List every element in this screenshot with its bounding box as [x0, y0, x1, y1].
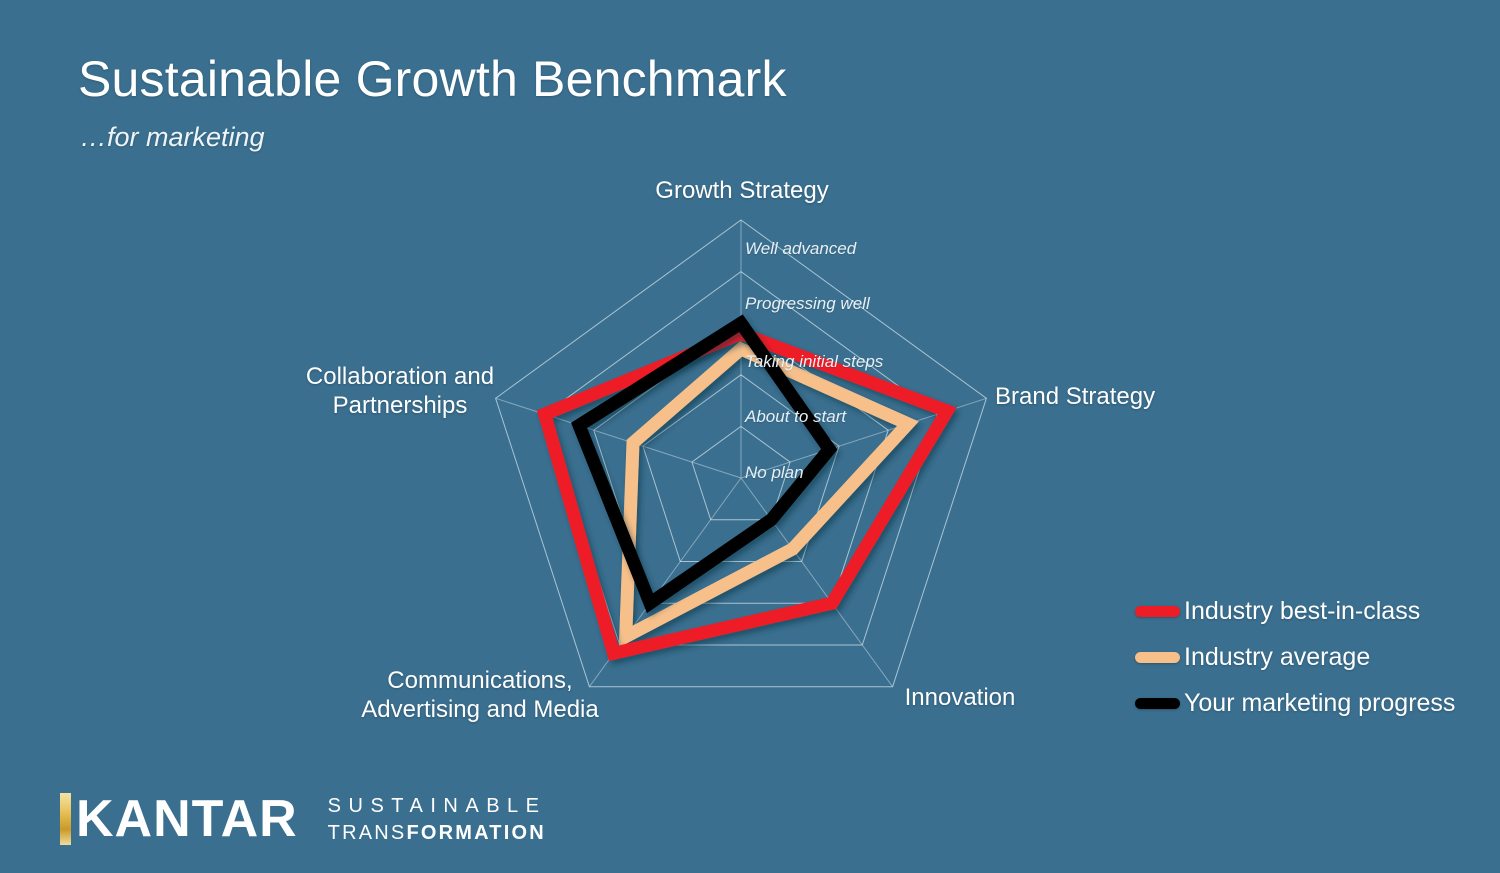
- kantar-logo: KANTAR SUSTAINABLE TRANSFORMATION: [60, 793, 547, 845]
- radar-axis-label-5: Collaboration and Partnerships: [250, 362, 550, 420]
- legend-swatch-icon: [1135, 606, 1180, 617]
- logo-formation-bold: FORMATION: [406, 822, 545, 844]
- logo-line-transformation: TRANSFORMATION: [328, 823, 547, 843]
- radial-tick-label: Taking initial steps: [745, 352, 883, 372]
- radar-axis-label-3: Innovation: [860, 683, 1060, 712]
- radar-axis-label-1: Growth Strategy: [612, 176, 872, 205]
- logo-trans-light: TRANS: [328, 822, 407, 844]
- legend-label: Your marketing progress: [1184, 689, 1455, 718]
- radial-tick-label: Well advanced: [745, 239, 856, 259]
- legend-label: Industry best-in-class: [1184, 597, 1420, 626]
- chart-legend: Industry best-in-classIndustry averageYo…: [1135, 588, 1455, 726]
- sustainable-transformation-lockup: SUSTAINABLE TRANSFORMATION: [328, 796, 547, 843]
- radial-tick-label: No plan: [745, 463, 804, 483]
- slide-root: Sustainable Growth Benchmark …for market…: [0, 0, 1500, 868]
- legend-item-3[interactable]: Your marketing progress: [1135, 680, 1455, 726]
- radial-tick-label: About to start: [745, 407, 846, 427]
- kantar-wordmark: KANTAR: [76, 793, 298, 845]
- legend-item-2[interactable]: Industry average: [1135, 634, 1455, 680]
- radial-tick-label: Progressing well: [745, 294, 870, 314]
- radar-axis-label-4: Communications, Advertising and Media: [330, 666, 630, 724]
- radar-axis-label-2: Brand Strategy: [995, 382, 1295, 411]
- legend-item-1[interactable]: Industry best-in-class: [1135, 588, 1455, 634]
- logo-line-sustainable: SUSTAINABLE: [328, 796, 547, 816]
- chart-label-layer: No planAbout to startTaking initial step…: [0, 0, 1500, 868]
- kantar-gold-bar-icon: [60, 793, 71, 845]
- legend-swatch-icon: [1135, 698, 1180, 709]
- legend-label: Industry average: [1184, 643, 1370, 672]
- legend-swatch-icon: [1135, 652, 1180, 663]
